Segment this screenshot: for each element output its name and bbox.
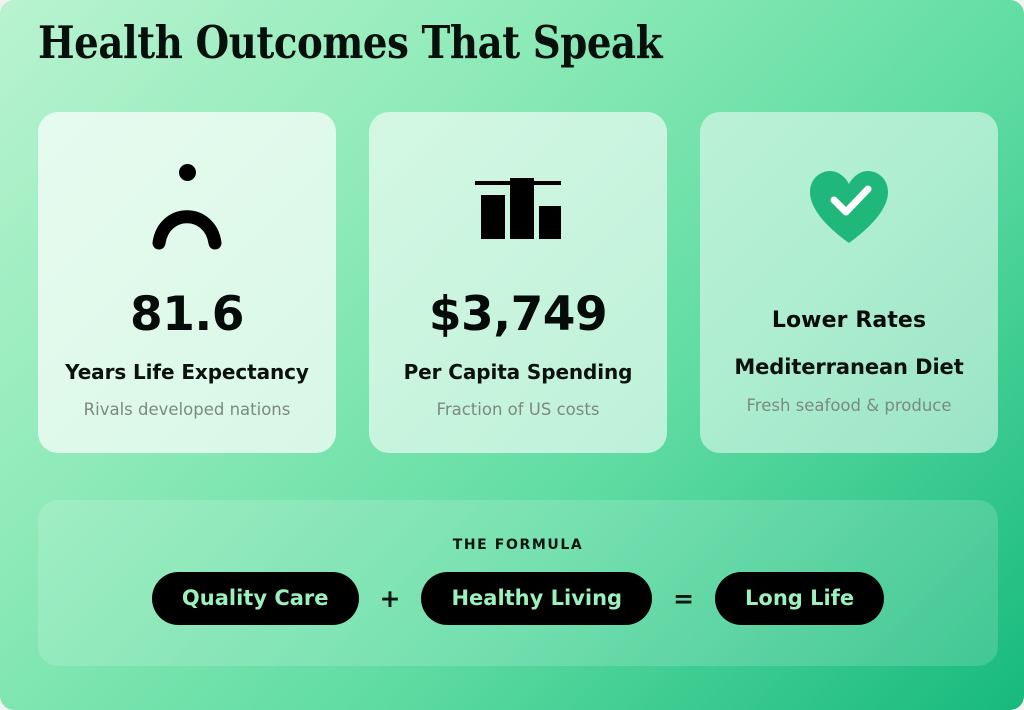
stat-card-row: 81.6 Years Life Expectancy Rivals develo… xyxy=(38,112,998,453)
stat-card-life-expectancy: 81.6 Years Life Expectancy Rivals develo… xyxy=(38,112,336,453)
stat-value: Lower Rates xyxy=(772,310,926,332)
person-icon-head xyxy=(179,164,196,181)
bar-chart-icon xyxy=(475,175,561,239)
formula-pill-healthy-living[interactable]: Healthy Living xyxy=(421,572,652,625)
card-body: $3,749 Per Capita Spending Fraction of U… xyxy=(369,291,667,419)
infographic-page: Health Outcomes That Speak 81.6 Years Li… xyxy=(0,0,1024,710)
stat-label: Years Life Expectancy xyxy=(65,360,309,384)
formula-operator-equals: = xyxy=(667,584,700,613)
formula-pill-long-life[interactable]: Long Life xyxy=(715,572,884,625)
bar-chart-icon-bar xyxy=(481,195,505,239)
stat-label: Mediterranean Diet xyxy=(734,355,963,379)
card-body: 81.6 Years Life Expectancy Rivals develo… xyxy=(38,291,336,419)
card-icon-slot xyxy=(150,148,224,266)
card-icon-slot xyxy=(475,148,561,266)
stat-card-mediterranean-diet: Lower Rates Mediterranean Diet Fresh sea… xyxy=(700,112,998,453)
person-icon xyxy=(150,162,224,252)
card-icon-slot xyxy=(808,148,890,266)
card-body: Lower Rates Mediterranean Diet Fresh sea… xyxy=(700,310,998,415)
formula-operator-plus: + xyxy=(374,584,407,613)
person-icon-body xyxy=(150,190,224,252)
stat-sublabel: Fresh seafood & produce xyxy=(747,396,952,415)
stat-value: 81.6 xyxy=(130,291,244,338)
formula-pill-quality-care[interactable]: Quality Care xyxy=(152,572,359,625)
formula-row: Quality Care + Healthy Living = Long Lif… xyxy=(152,572,884,625)
page-title: Health Outcomes That Speak xyxy=(38,16,662,70)
formula-kicker: THE FORMULA xyxy=(453,537,584,553)
formula-panel: THE FORMULA Quality Care + Healthy Livin… xyxy=(38,500,998,666)
stat-value: $3,749 xyxy=(429,291,607,338)
bar-chart-icon-bar xyxy=(539,206,561,239)
stat-label: Per Capita Spending xyxy=(404,360,633,384)
bar-chart-icon-bar xyxy=(510,178,534,239)
stat-sublabel: Rivals developed nations xyxy=(84,400,291,419)
heart-check-icon xyxy=(808,169,890,245)
stat-card-per-capita-spending: $3,749 Per Capita Spending Fraction of U… xyxy=(369,112,667,453)
stat-sublabel: Fraction of US costs xyxy=(437,400,600,419)
